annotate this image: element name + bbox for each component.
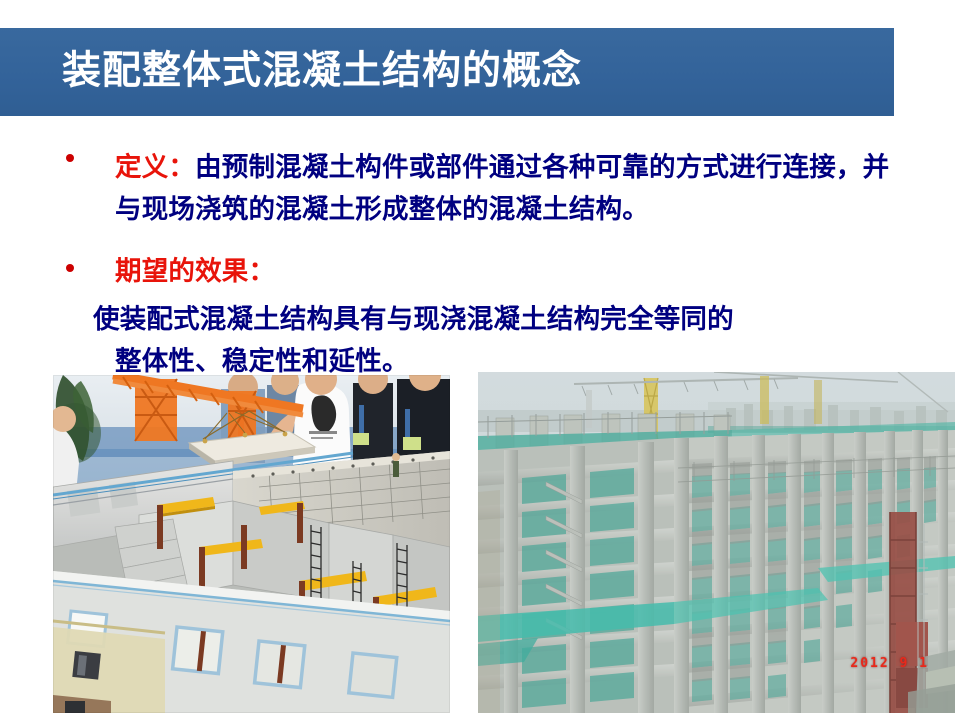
bullet-label-expected-effect-row: 期望的效果：	[0, 240, 955, 292]
bullet-label-expected-effect: 期望的效果：	[115, 256, 275, 286]
bullet-marker-icon	[66, 264, 74, 272]
photo-left-artwork	[53, 375, 450, 713]
slide-title-banner: 装配整体式混凝土结构的概念	[0, 28, 894, 116]
bullet-label-definition: 定义：	[115, 152, 195, 182]
bullet-item-expected-effect: 期望的效果： 使装配式混凝土结构具有与现浇混凝土结构完全等同的整体性、稳定性和延…	[0, 240, 955, 382]
bullet-text-definition: 由预制混凝土构件或部件通过各种可靠的方式进行连接，并与现场浇筑的混凝土形成整体的…	[115, 152, 889, 224]
page-title: 装配整体式混凝土结构的概念	[62, 52, 582, 91]
bullet-paragraph-definition: 定义：由预制混凝土构件或部件通过各种可靠的方式进行连接，并与现场浇筑的混凝土形成…	[0, 140, 955, 230]
photo-building-under-construction: 2012 9 1	[478, 372, 955, 713]
bullet-item-definition: 定义：由预制混凝土构件或部件通过各种可靠的方式进行连接，并与现场浇筑的混凝土形成…	[0, 140, 955, 230]
bullet-marker-icon	[66, 154, 74, 162]
photo-precast-building-model	[53, 375, 450, 713]
bullet-text-expected-effect: 使装配式混凝土结构具有与现浇混凝土结构完全等同的整体性、稳定性和延性。	[0, 292, 955, 382]
expected-effect-line-1: 使装配式混凝土结构具有与现浇混凝土结构完全等同的	[93, 304, 734, 334]
photo-timestamp: 2012 9 1	[850, 656, 929, 671]
slide-body: 定义：由预制混凝土构件或部件通过各种可靠的方式进行连接，并与现场浇筑的混凝土形成…	[0, 140, 955, 382]
